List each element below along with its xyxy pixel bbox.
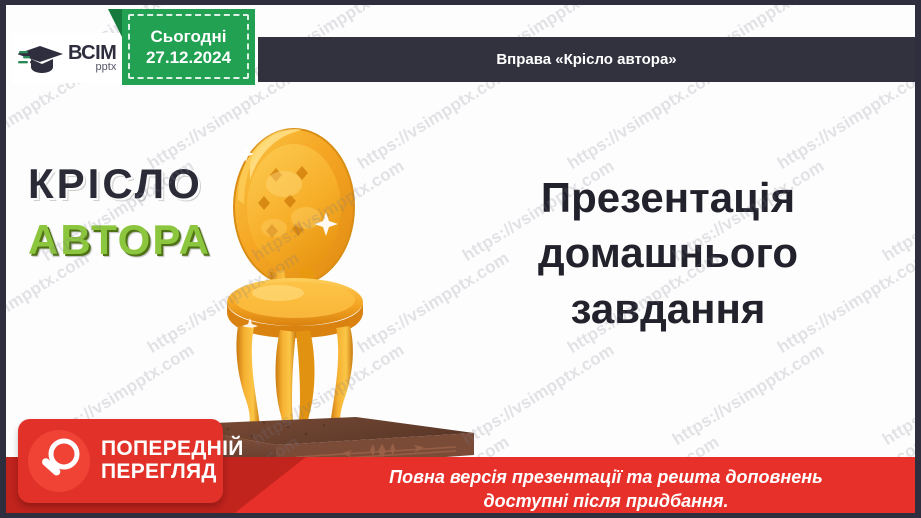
today-date-badge: Сьогодні 27.12.2024 — [122, 9, 255, 85]
watermark-text: https://vsimpptx.com — [669, 340, 828, 450]
page-title: Презентація домашнього завдання — [458, 170, 878, 336]
logo-text: ВСІМ pptx — [68, 43, 116, 73]
magnifier-icon — [28, 430, 90, 492]
watermark-text: https://vsimpptx.com — [6, 248, 93, 358]
logo-title: ВСІМ — [68, 43, 116, 63]
header-bar: Вправа «Крісло автора» — [258, 37, 915, 82]
golden-chair-svg — [198, 100, 413, 440]
preview-line-2: ПЕРЕГЛЯД — [101, 461, 244, 484]
headline-line-2: домашнього — [458, 225, 878, 280]
watermark-text: https://vsimpptx.com — [879, 340, 915, 450]
today-date: 27.12.2024 — [146, 47, 231, 68]
presentation-slide: КРІСЛО АВТОРА Презентація домашнього зав… — [0, 0, 921, 518]
frame-bottom — [0, 513, 921, 518]
banner-line-1: Повна версія презентації та решта доповн… — [306, 465, 906, 489]
headline-line-3: завдання — [458, 281, 878, 336]
preview-badge-text: ПОПЕРЕДНІЙ ПЕРЕГЛЯД — [101, 438, 244, 483]
brand-logo[interactable]: ВСІМ pptx — [12, 33, 132, 83]
preview-line-1: ПОПЕРЕДНІЙ — [101, 438, 244, 461]
frame-top — [0, 0, 921, 5]
wordart-line-1: КРІСЛО — [28, 163, 211, 205]
chair-illustration — [198, 100, 413, 440]
preview-badge[interactable]: ПОПЕРЕДНІЙ ПЕРЕГЛЯД — [18, 419, 223, 503]
slide-canvas: КРІСЛО АВТОРА Презентація домашнього зав… — [6, 5, 915, 513]
headline-line-1: Презентація — [458, 170, 878, 225]
wordart-block: КРІСЛО АВТОРА — [28, 163, 211, 261]
today-label: Сьогодні — [151, 26, 227, 47]
wordart-line-2: АВТОРА — [28, 219, 211, 261]
header-title: Вправа «Крісло автора» — [496, 51, 676, 68]
banner-line-2: доступні після придбання. — [306, 489, 906, 513]
watermark-text: https://vsimpptx.com — [879, 156, 915, 266]
frame-right — [915, 0, 921, 518]
graduation-cap-icon — [18, 40, 66, 76]
banner-text: Повна версія презентації та решта доповн… — [306, 465, 906, 513]
frame-left — [0, 0, 6, 518]
